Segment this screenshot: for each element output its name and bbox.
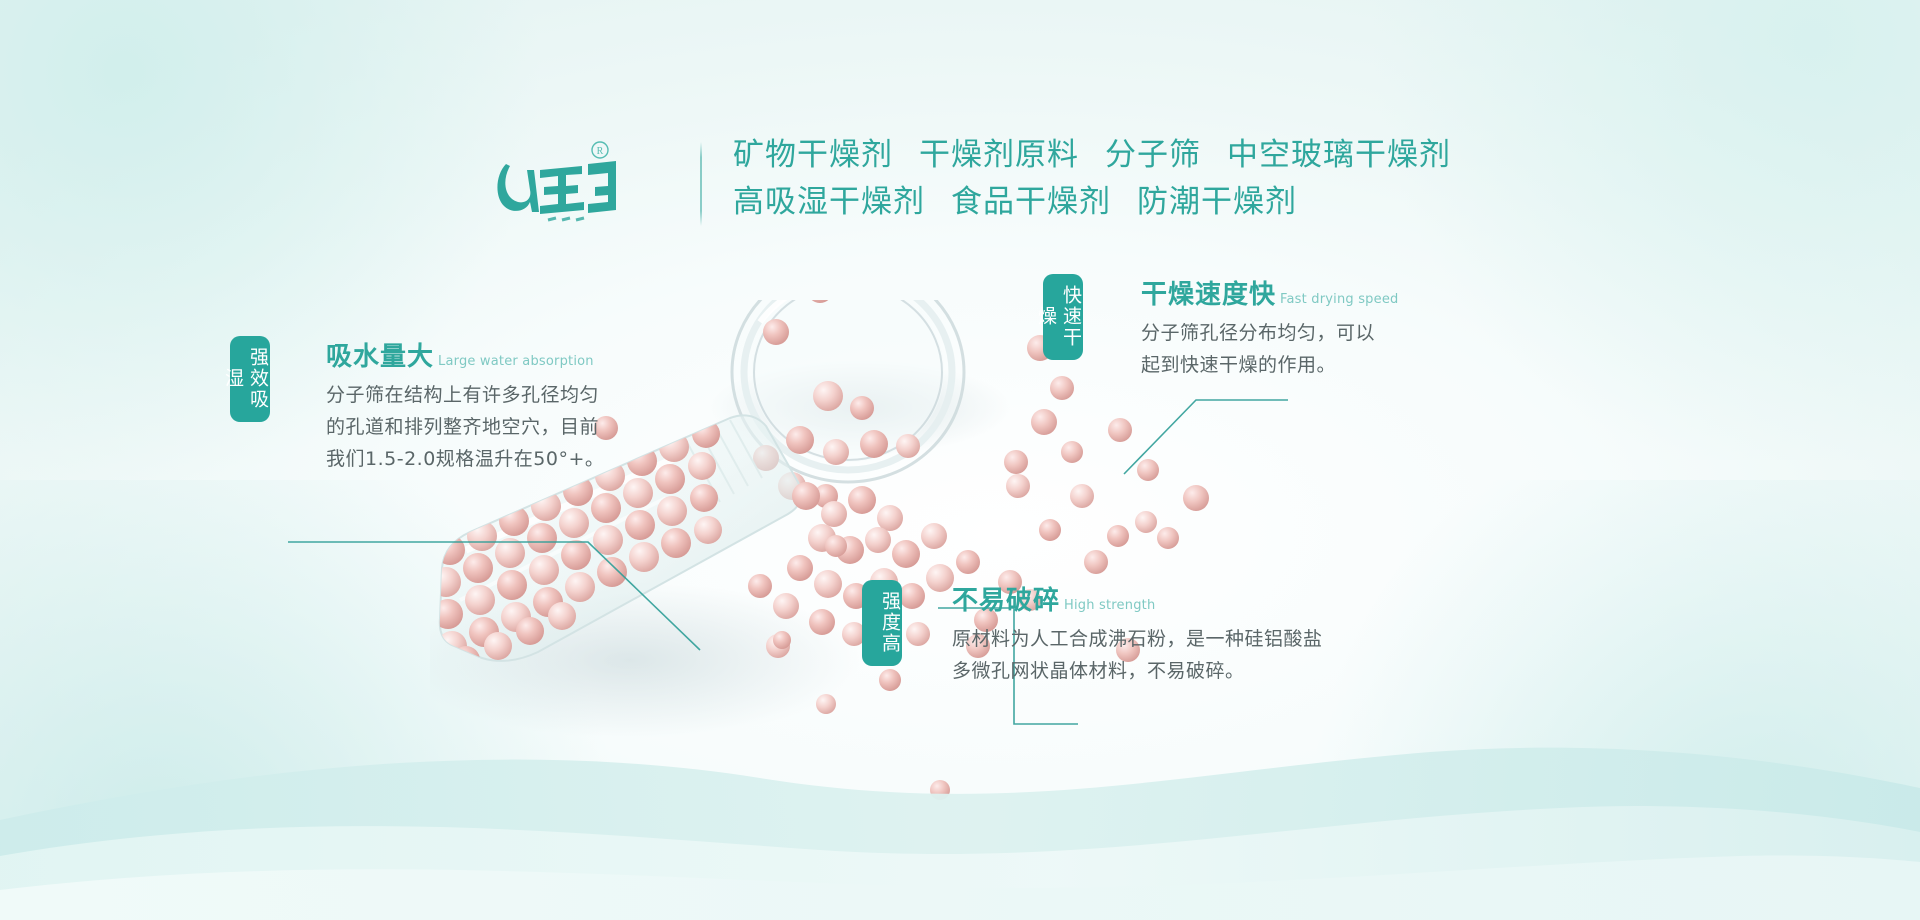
site-header: R 矿物干燥剂干燥剂原料分子筛中空玻璃干燥剂 高吸湿干燥剂食品干燥剂防潮干燥剂 (0, 132, 1920, 232)
callout-line-2: 多微孔网状晶体材料，不易破碎。 (952, 655, 1323, 687)
callout-title-en: Large water absorption (438, 354, 594, 369)
nav-item-desiccant-raw-material[interactable]: 干燥剂原料 (919, 137, 1079, 173)
badge-fast-drying: 快速干燥 (1043, 274, 1083, 360)
callout-title-zh: 不易破碎 (952, 580, 1060, 617)
wave-decoration (0, 700, 1920, 920)
callout-title-zh: 干燥速度快 (1141, 274, 1276, 311)
nav-item-moisture-proof-desiccant[interactable]: 防潮干燥剂 (1137, 184, 1297, 220)
callout-title-zh: 吸水量大 (326, 336, 434, 373)
callout-body: 不易破碎 High strength 原材料为人工合成沸石粉，是一种硅铝酸盐 多… (916, 580, 1323, 687)
callout-line-1: 分子筛在结构上有许多孔径均匀 (326, 379, 604, 411)
banner-canvas: R 矿物干燥剂干燥剂原料分子筛中空玻璃干燥剂 高吸湿干燥剂食品干燥剂防潮干燥剂 … (0, 0, 1920, 920)
callout-title: 不易破碎 High strength (952, 580, 1323, 617)
header-divider (700, 142, 702, 226)
callout-line-2: 的孔道和排列整齐地空穴，目前 (326, 411, 604, 443)
nav-line-2: 高吸湿干燥剂食品干燥剂防潮干燥剂 (733, 179, 1451, 226)
header-nav: 矿物干燥剂干燥剂原料分子筛中空玻璃干燥剂 高吸湿干燥剂食品干燥剂防潮干燥剂 (733, 132, 1451, 226)
yaan-logo[interactable]: R (496, 140, 616, 232)
callout-title: 吸水量大 Large water absorption (326, 336, 604, 373)
callout-large-water-absorption: 强效吸湿 吸水量大 Large water absorption 分子筛在结构上… (230, 336, 604, 475)
nav-item-molecular-sieve[interactable]: 分子筛 (1105, 137, 1201, 173)
callout-title-en: High strength (1064, 598, 1155, 613)
nav-item-mineral-desiccant[interactable]: 矿物干燥剂 (733, 137, 893, 173)
callout-body: 干燥速度快 Fast drying speed 分子筛孔径分布均匀，可以 起到快… (1097, 274, 1398, 381)
callout-line-3: 我们1.5-2.0规格温升在50°+。 (326, 443, 604, 475)
callout-line-2: 起到快速干燥的作用。 (1141, 349, 1398, 381)
badge-high-strength: 强度高 (862, 580, 902, 666)
nav-item-insulating-glass-desiccant[interactable]: 中空玻璃干燥剂 (1227, 137, 1451, 173)
nav-item-high-moisture-desiccant[interactable]: 高吸湿干燥剂 (733, 184, 925, 220)
callout-high-strength: 强度高 不易破碎 High strength 原材料为人工合成沸石粉，是一种硅铝… (862, 580, 1323, 687)
callout-body: 吸水量大 Large water absorption 分子筛在结构上有许多孔径… (284, 336, 604, 475)
nav-line-1: 矿物干燥剂干燥剂原料分子筛中空玻璃干燥剂 (733, 132, 1451, 179)
callout-line-1: 分子筛孔径分布均匀，可以 (1141, 317, 1398, 349)
nav-item-food-desiccant[interactable]: 食品干燥剂 (951, 184, 1111, 220)
callout-line-1: 原材料为人工合成沸石粉，是一种硅铝酸盐 (952, 623, 1323, 655)
callout-fast-drying-speed: 快速干燥 干燥速度快 Fast drying speed 分子筛孔径分布均匀，可… (1043, 274, 1398, 381)
badge-strong-moisture-absorption: 强效吸湿 (230, 336, 270, 422)
svg-text:R: R (597, 146, 604, 157)
callout-title: 干燥速度快 Fast drying speed (1141, 274, 1398, 311)
registered-trademark-icon: R (592, 142, 608, 158)
callout-title-en: Fast drying speed (1280, 292, 1398, 307)
